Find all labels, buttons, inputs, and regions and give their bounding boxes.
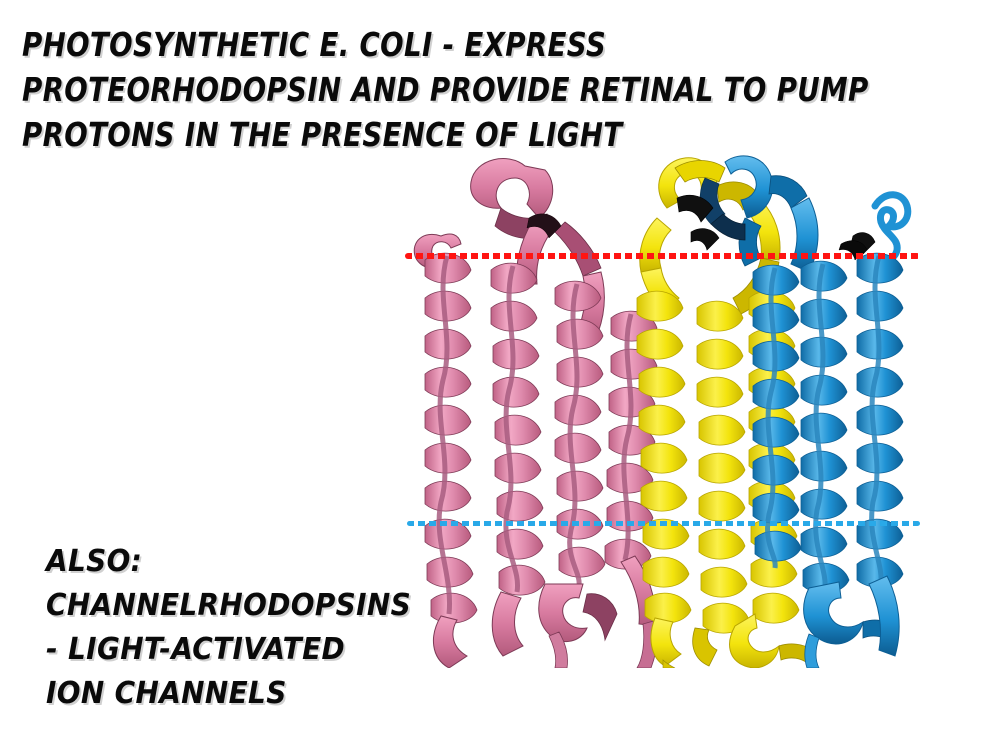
protein-structure-figure [405,148,920,668]
inner-leaflet-line [407,521,920,526]
slide-subnote: Also: channelrhodopsins - light-activate… [46,540,381,716]
outer-leaflet-line [405,253,920,259]
slide-canvas: Photosynthetic E. coli - express proteor… [0,0,1000,750]
slide-title: Photosynthetic E. coli - express proteor… [22,22,887,157]
chain-a-pink [414,159,658,668]
ribbon-diagram-svg [405,148,920,668]
